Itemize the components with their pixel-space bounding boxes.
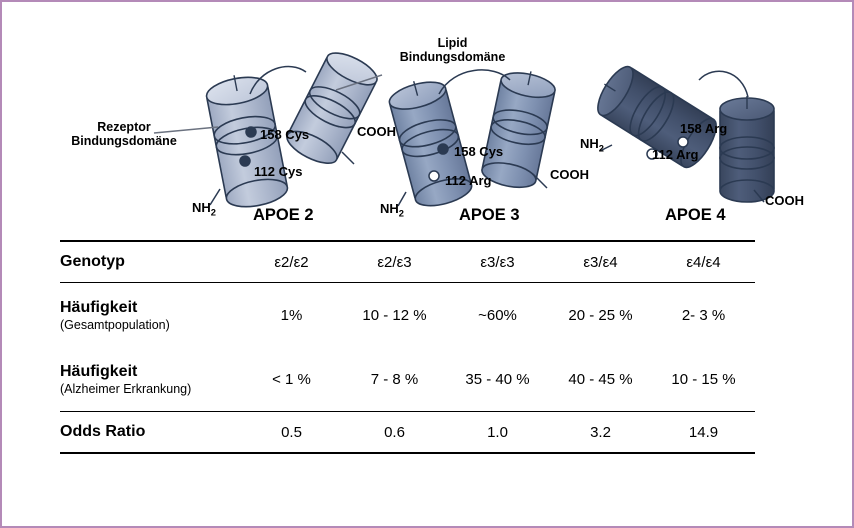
lipid-domain-line2: Bindungsdomäne <box>400 50 506 64</box>
apoe3-n-terminus-label: NH2 <box>380 202 404 219</box>
figure-page: Rezeptor Bindungsdomäne Lipid Bindungsdo… <box>0 0 854 528</box>
row-label-genotype: Genotyp <box>60 242 240 283</box>
cell-freq-3: ~60% <box>446 283 549 347</box>
cell-odds-4: 3.2 <box>549 412 652 453</box>
apoe-structure-diagram: Rezeptor Bindungsdomäne Lipid Bindungsdo… <box>2 2 852 238</box>
apoe4-c-terminus-label: COOH <box>765 194 804 209</box>
cell-alz-3: 35 - 40 % <box>446 347 549 412</box>
figure-inner: Rezeptor Bindungsdomäne Lipid Bindungsdo… <box>2 2 852 526</box>
apoe3-residue-158-label: 158 Cys <box>454 145 503 160</box>
receptor-domain-line2: Bindungsdomäne <box>71 134 177 148</box>
apoe3-marker-158 <box>438 144 448 154</box>
table-row: Odds Ratio 0.5 0.6 1.0 3.2 14.9 <box>60 412 755 453</box>
apoe-genotype-table: Genotyp ε2/ε2 ε2/ε3 ε3/ε3 ε3/ε4 ε4/ε4 Hä… <box>60 240 755 454</box>
apoe3-receptor-cylinder <box>386 74 475 211</box>
row-sublabel-text: (Gesamtpopulation) <box>60 318 240 332</box>
apoe4-lipid-cylinder <box>720 96 774 202</box>
row-label-text: Häufigkeit <box>60 299 137 316</box>
row-label-haeufigkeit-gesamt: Häufigkeit (Gesamtpopulation) <box>60 283 240 347</box>
apoe2-marker-112 <box>240 156 250 166</box>
row-label-haeufigkeit-alzheimer: Häufigkeit (Alzheimer Erkrankung) <box>60 347 240 412</box>
isoform-name-apoe4: APOE 4 <box>665 206 726 225</box>
cell-genotype-4: ε3/ε4 <box>549 242 652 283</box>
isoform-name-apoe2: APOE 2 <box>253 206 314 225</box>
cell-freq-5: 2- 3 % <box>652 283 755 347</box>
apoe4-n-terminus-label: NH2 <box>580 137 604 154</box>
apoe-genotype-table-wrapper: Genotyp ε2/ε2 ε2/ε3 ε3/ε3 ε3/ε4 ε4/ε4 Hä… <box>60 240 755 454</box>
cell-freq-4: 20 - 25 % <box>549 283 652 347</box>
receptor-binding-domain-label: Rezeptor Bindungsdomäne <box>64 120 184 149</box>
cell-genotype-1: ε2/ε2 <box>240 242 343 283</box>
apoe3-marker-112 <box>429 171 439 181</box>
apoe2-residue-112-label: 112 Cys <box>254 165 302 180</box>
cell-odds-1: 0.5 <box>240 412 343 453</box>
apoe2-n-terminus-label: NH2 <box>192 201 216 218</box>
cell-odds-2: 0.6 <box>343 412 446 453</box>
apoe2-marker-158 <box>246 127 256 137</box>
table-row: Genotyp ε2/ε2 ε2/ε3 ε3/ε3 ε3/ε4 ε4/ε4 <box>60 242 755 283</box>
apoe3-residue-112-label: 112 Arg <box>445 174 492 189</box>
apoe3-c-terminus-label: COOH <box>550 168 589 183</box>
cell-freq-2: 10 - 12 % <box>343 283 446 347</box>
receptor-domain-line1: Rezeptor <box>97 120 150 134</box>
apoe4-residue-158-label: 158 Arg <box>680 122 727 137</box>
cell-odds-3: 1.0 <box>446 412 549 453</box>
cell-genotype-5: ε4/ε4 <box>652 242 755 283</box>
lipid-binding-domain-label: Lipid Bindungsdomäne <box>385 36 520 65</box>
row-label-odds-ratio: Odds Ratio <box>60 412 240 453</box>
table-row: Häufigkeit (Alzheimer Erkrankung) < 1 % … <box>60 347 755 412</box>
cell-odds-5: 14.9 <box>652 412 755 453</box>
apoe2-lipid-cylinder <box>283 47 382 170</box>
apoe4-residue-112-label: 112 Arg <box>652 148 699 163</box>
apoe4-marker-158 <box>678 137 688 147</box>
cell-genotype-2: ε2/ε3 <box>343 242 446 283</box>
row-label-text: Odds Ratio <box>60 423 145 440</box>
lipid-domain-line1: Lipid <box>438 36 468 50</box>
apoe2-residue-158-label: 158 Cys <box>260 128 309 143</box>
cell-genotype-3: ε3/ε3 <box>446 242 549 283</box>
row-label-text: Häufigkeit <box>60 363 137 380</box>
row-sublabel-text: (Alzheimer Erkrankung) <box>60 382 240 396</box>
apoe2-c-terminus-label: COOH <box>357 125 396 140</box>
table-rule-bottom <box>60 453 755 454</box>
row-label-text: Genotyp <box>60 253 125 270</box>
isoform-name-apoe3: APOE 3 <box>459 206 520 225</box>
cell-alz-5: 10 - 15 % <box>652 347 755 412</box>
cell-alz-1: < 1 % <box>240 347 343 412</box>
cell-alz-2: 7 - 8 % <box>343 347 446 412</box>
cell-freq-1: 1% <box>240 283 343 347</box>
cell-alz-4: 40 - 45 % <box>549 347 652 412</box>
table-row: Häufigkeit (Gesamtpopulation) 1% 10 - 12… <box>60 283 755 347</box>
